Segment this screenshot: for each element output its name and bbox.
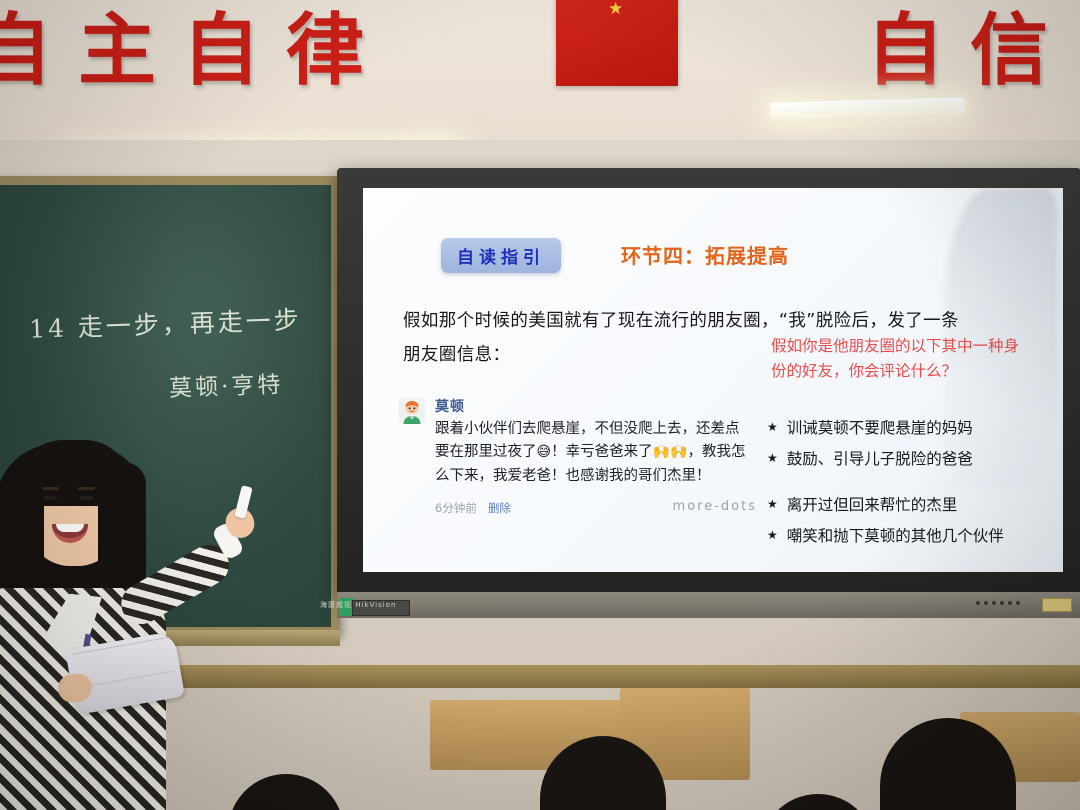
wechat-post-meta: 6分钟前 删除 more-dots <box>435 500 749 516</box>
boy-avatar-icon <box>399 398 425 424</box>
list-item: ★ 鼓励、引导儿子脱险的爸爸 <box>767 447 1035 471</box>
post-text-segment-1: 跟着小伙伴们去爬悬崖，不但没爬上去， <box>435 421 696 437</box>
teacher-figure <box>0 438 236 810</box>
teacher-eye-left <box>44 496 57 500</box>
slide-section-title: 环节四：拓展提高 <box>621 240 789 269</box>
sweat-smile-emoji-icon: 😅 <box>537 444 552 460</box>
wechat-post: 莫顿 跟着小伙伴们去爬悬崖，不但没爬上去，还差点要在那里过夜了😅！幸亏爸爸来了🙌… <box>399 396 749 516</box>
bullet-label: 鼓励、引导儿子脱险的爸爸 <box>787 447 973 471</box>
panel-rating-label <box>1042 598 1072 612</box>
speaker-grille-icon <box>976 601 1020 605</box>
star-bullet-icon: ★ <box>767 493 778 517</box>
wall-slogan-partial-text: 自信 <box>866 0 1074 100</box>
panel-brand-text: 海康威视 HikVision <box>320 600 396 610</box>
list-item: ★ 嘲笑和抛下莫顿的其他几个伙伴 <box>767 524 1035 548</box>
star-bullet-icon: ★ <box>767 416 778 440</box>
wechat-post-text: 跟着小伙伴们去爬悬崖，不但没爬上去，还差点要在那里过夜了😅！幸亏爸爸来了🙌🙌，教… <box>435 418 749 488</box>
list-item: ★ 训诫莫顿不要爬悬崖的妈妈 <box>767 416 1035 440</box>
slide-badge: 自读指引 <box>441 238 561 273</box>
flag-star-icon: ★ <box>608 0 623 17</box>
wechat-post-time: 6分钟前 <box>435 500 477 516</box>
panel-screen[interactable]: 自读指引 环节四：拓展提高 假如那个时候的美国就有了现在流行的朋友圈，“我”脱险… <box>363 188 1063 572</box>
raised-hands-emoji-icon: 🙌 <box>653 444 670 460</box>
post-text-segment-3: ！幸亏爸爸来了 <box>551 444 653 460</box>
panel-speaker-bar <box>337 592 1080 618</box>
bullet-label: 嘲笑和抛下莫顿的其他几个伙伴 <box>787 524 1004 548</box>
teacher-eye-right <box>80 496 93 500</box>
china-flag-icon: ★ <box>556 0 678 86</box>
slide-canvas[interactable]: 自读指引 环节四：拓展提高 假如那个时候的美国就有了现在流行的朋友圈，“我”脱险… <box>363 188 1063 572</box>
star-bullet-icon: ★ <box>767 447 778 471</box>
blackboard-title-text: 14 走一步，再走一步 <box>28 300 302 345</box>
wechat-post-delete-link[interactable]: 删除 <box>488 500 511 516</box>
bullet-label: 训诫莫顿不要爬悬崖的妈妈 <box>787 416 973 440</box>
star-bullet-icon: ★ <box>767 524 778 548</box>
slide-question-text: 假如你是他朋友圈的以下其中一种身份的好友，你会评论什么？ <box>771 334 1021 384</box>
teacher-eyebrow-right <box>78 487 95 490</box>
raised-hands-emoji-icon: 🙌 <box>670 444 687 460</box>
teacher-eyebrow-left <box>42 487 59 490</box>
list-item: ★ 离开过但回来帮忙的杰里 <box>767 493 1035 517</box>
blackboard-author-text: 莫顿·亨特 <box>168 365 283 403</box>
classroom-scene: 自主自律 ★ 自信 14 走一步，再走一步 莫顿·亨特 自读指引 环节四：拓展提… <box>0 0 1080 810</box>
slide-bullet-list: ★ 训诫莫顿不要爬悬崖的妈妈 ★ 鼓励、引导儿子脱险的爸爸 ★ 离开过但回来帮忙… <box>767 416 1035 555</box>
wechat-post-body: 莫顿 跟着小伙伴们去爬悬崖，不但没爬上去，还差点要在那里过夜了😅！幸亏爸爸来了🙌… <box>435 396 749 516</box>
upper-wall: 自主自律 ★ 自信 <box>0 0 1080 150</box>
more-dots-icon[interactable]: more-dots <box>673 499 757 514</box>
wechat-post-author: 莫顿 <box>435 396 749 416</box>
wall-slogan-text: 自主自律 <box>0 0 390 100</box>
interactive-flat-panel[interactable]: 自读指引 环节四：拓展提高 假如那个时候的美国就有了现在流行的朋友圈，“我”脱险… <box>337 168 1080 596</box>
bullet-label: 离开过但回来帮忙的杰里 <box>787 493 958 517</box>
